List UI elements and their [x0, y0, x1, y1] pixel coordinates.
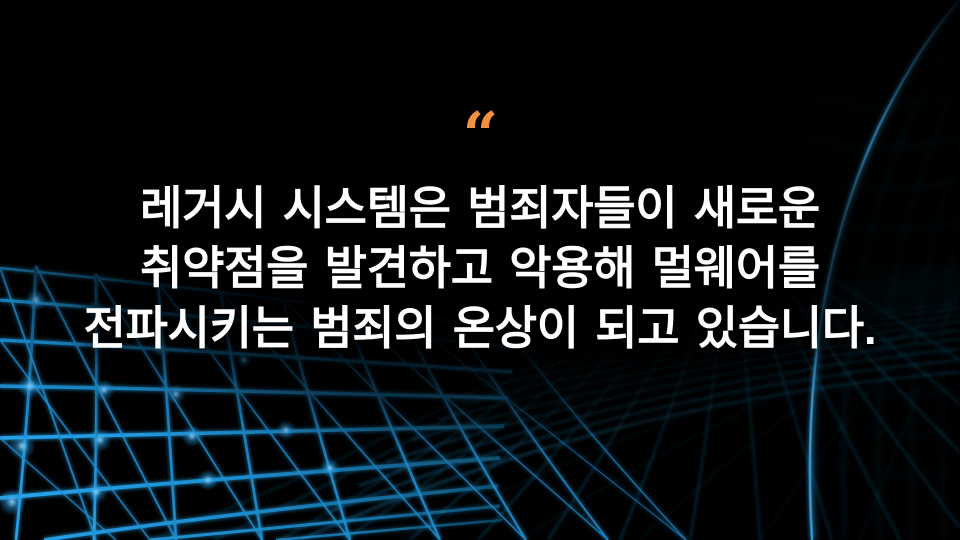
- quote-text: 레거시 시스템은 범죄자들이 새로운 취약점을 발견하고 악용해 멀웨어를 전파…: [0, 178, 960, 358]
- quotation-mark-icon: “: [463, 104, 498, 166]
- quote-line-3: 전파시키는 범죄의 온상이 되고 있습니다.: [0, 298, 960, 358]
- slide-content: “ 레거시 시스템은 범죄자들이 새로운 취약점을 발견하고 악용해 멀웨어를 …: [0, 0, 960, 540]
- quote-line-1: 레거시 시스템은 범죄자들이 새로운: [0, 178, 960, 238]
- quote-line-2: 취약점을 발견하고 악용해 멀웨어를: [0, 238, 960, 298]
- quote-slide: “ 레거시 시스템은 범죄자들이 새로운 취약점을 발견하고 악용해 멀웨어를 …: [0, 0, 960, 540]
